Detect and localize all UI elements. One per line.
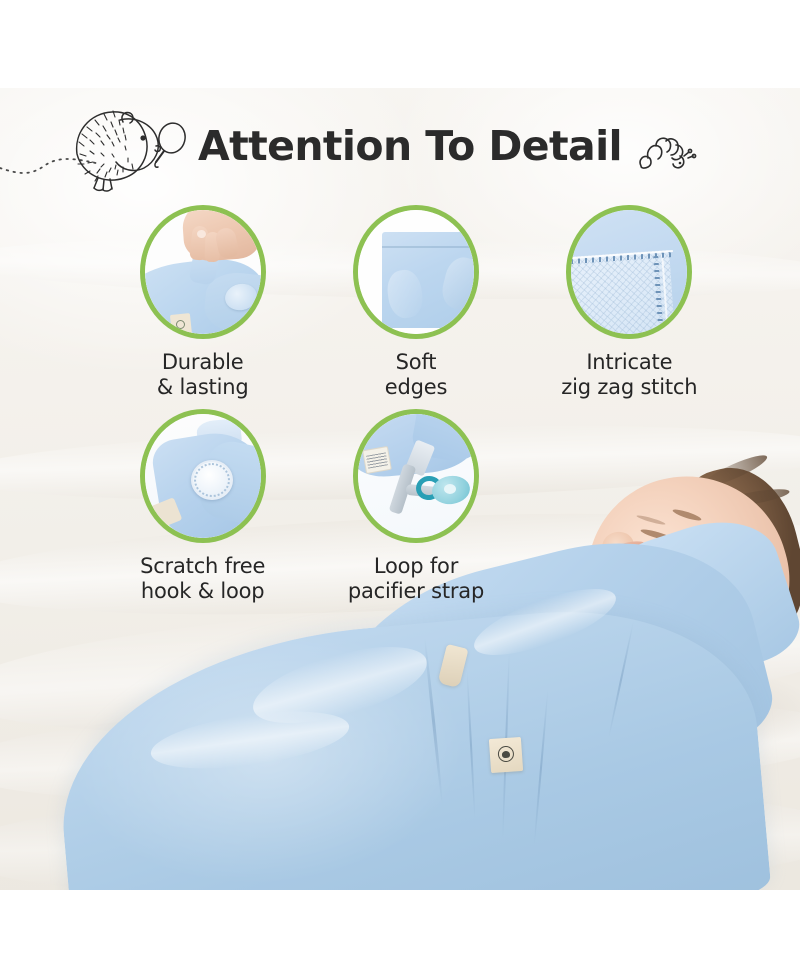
hedgehog-with-magnifier-icon: [60, 100, 190, 192]
feature-zig-zag-stitch[interactable]: Intricate zig zag stitch: [523, 205, 736, 400]
feature-image-scratch-free[interactable]: [140, 409, 266, 543]
caterpillar-icon: [636, 132, 698, 178]
feature-label-soft-edges: Soft edges: [385, 350, 447, 400]
hedgehog-logo-icon: [497, 745, 514, 762]
feature-pacifier-loop[interactable]: Loop for pacifier strap: [309, 409, 522, 604]
feature-label-durable: Durable & lasting: [157, 350, 249, 400]
hedgehog-brand-tag: [489, 737, 523, 773]
feature-image-pacifier-loop[interactable]: [353, 409, 479, 543]
top-white-band: [0, 0, 800, 88]
feature-label-pacifier-loop: Loop for pacifier strap: [348, 554, 484, 604]
feature-grid: Durable & lasting Soft edges: [96, 205, 736, 604]
bottom-white-band: [0, 890, 800, 978]
feature-label-scratch-free: Scratch free hook & loop: [140, 554, 265, 604]
feature-durable[interactable]: Durable & lasting: [96, 205, 309, 400]
product-infographic: Attention To Detail: [0, 0, 800, 978]
feature-image-soft-edges[interactable]: [353, 205, 479, 339]
feature-row: Scratch free hook & loop: [96, 409, 736, 604]
feature-image-zig-zag-stitch[interactable]: [566, 205, 692, 339]
feature-label-zig-zag-stitch: Intricate zig zag stitch: [561, 350, 697, 400]
feature-row: Durable & lasting Soft edges: [96, 205, 736, 400]
feature-image-durable[interactable]: [140, 205, 266, 339]
page-title: Attention To Detail: [180, 120, 640, 172]
feature-scratch-free[interactable]: Scratch free hook & loop: [96, 409, 309, 604]
feature-soft-edges[interactable]: Soft edges: [309, 205, 522, 400]
